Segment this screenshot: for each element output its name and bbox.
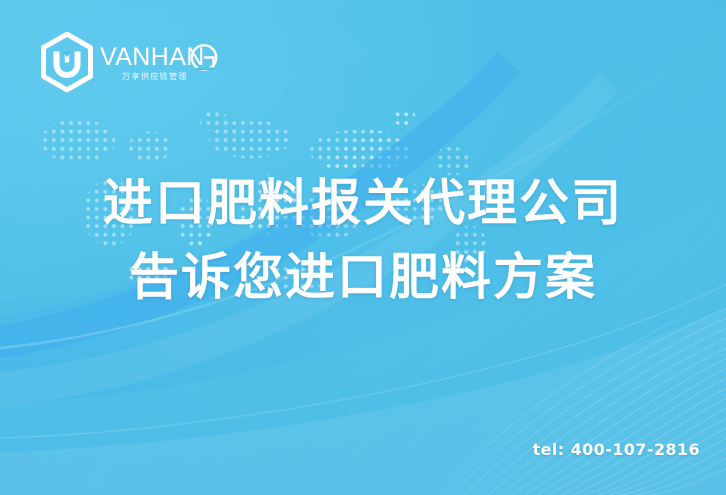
logo-tagline: 万享供应链管理 (122, 71, 188, 81)
headline-line-2: 告诉您进口肥料方案 (0, 240, 726, 314)
brand-logo[interactable]: VANHAN 万享供应链管理 (38, 31, 218, 93)
promo-banner: VANHAN 万享供应链管理 进口肥料报关代理公司 告诉您进口肥料方案 tel:… (0, 0, 726, 495)
vanhang-hexagon-u-icon (38, 31, 96, 93)
svg-text:VANHAN: VANHAN (100, 43, 205, 71)
contact-phone[interactable]: tel: 400-107-2816 (533, 440, 700, 459)
vanhang-wordmark: VANHAN 万享供应链管理 (100, 39, 218, 85)
page-title: 进口肥料报关代理公司 告诉您进口肥料方案 (0, 166, 726, 314)
headline-line-1: 进口肥料报关代理公司 (0, 166, 726, 240)
